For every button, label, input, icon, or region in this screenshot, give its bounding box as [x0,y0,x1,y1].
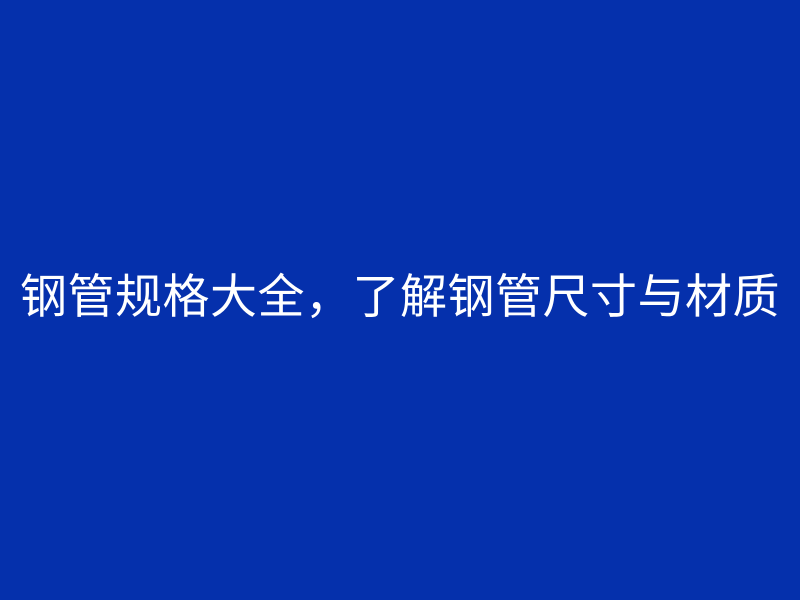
banner-canvas: 钢管规格大全，了解钢管尺寸与材质 [0,0,800,600]
page-title: 钢管规格大全，了解钢管尺寸与材质 [20,272,780,325]
headline-container: 钢管规格大全，了解钢管尺寸与材质 [0,0,800,600]
